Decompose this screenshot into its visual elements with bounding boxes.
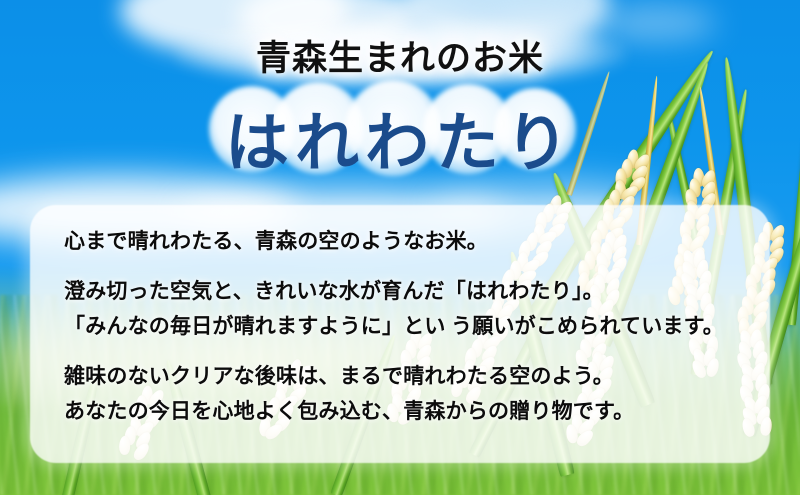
- body-line: 澄み切った空気と、きれいな水が育んだ「はれわたり」。: [64, 274, 764, 309]
- body-line: 「みんなの毎日が晴れますように」とい う願いがこめられています。: [64, 309, 764, 344]
- body-line: 雑味のないクリアな後味は、まるで晴れわたる空のよう。: [64, 359, 764, 394]
- paragraph-spacer: [64, 344, 764, 359]
- paragraph-spacer: [64, 259, 764, 274]
- body-line: 心まで晴れわたる、青森の空のようなお米。: [64, 224, 764, 259]
- body-copy: 心まで晴れわたる、青森の空のようなお米。 澄み切った空気と、きれいな水が育んだ「…: [64, 224, 764, 429]
- brand-name: はれわたり: [0, 92, 800, 184]
- rice-brand-poster: 青森生まれのお米 はれわたり 心まで晴れわたる、青森の空のようなお米。 澄み切っ…: [0, 0, 800, 495]
- body-line: あなたの今日を心地よく包み込む、青森からの贈り物です。: [64, 394, 764, 429]
